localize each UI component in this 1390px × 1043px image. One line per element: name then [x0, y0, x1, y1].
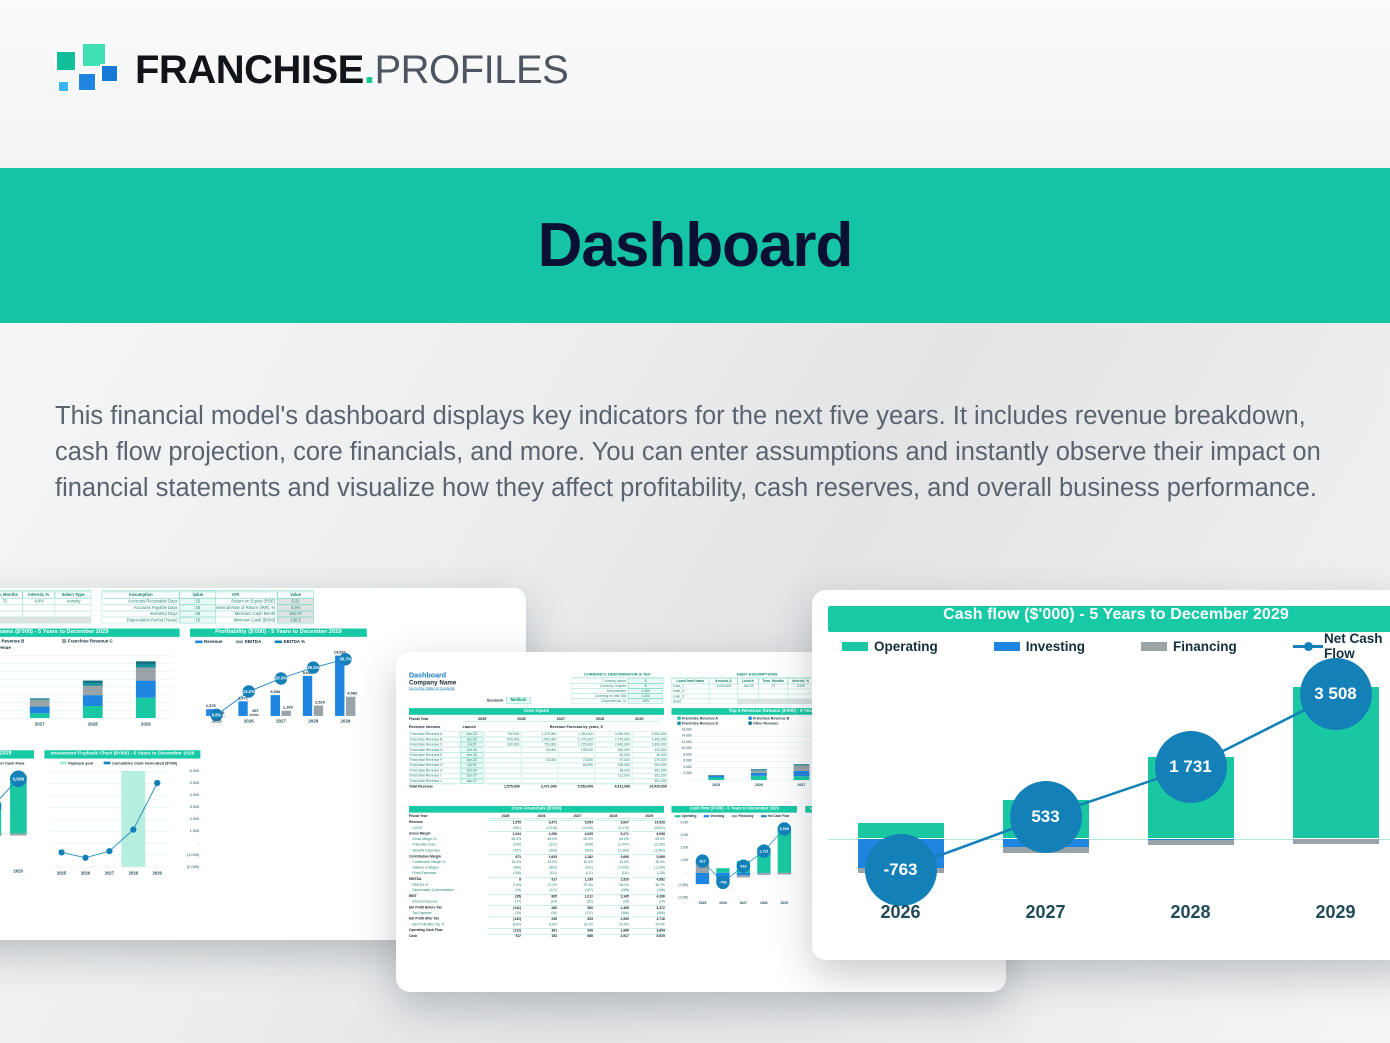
cf-row-value: 805: [524, 894, 558, 899]
cf-row-value: 671: [488, 854, 522, 859]
legend-swatch: [1141, 642, 1167, 651]
bar-segment: [83, 683, 103, 686]
mini-cashflow-label: 533: [737, 859, 750, 872]
page-banner: Dashboard: [0, 168, 1390, 323]
y-tick: 4,000: [673, 765, 691, 770]
cashflow-legend: OperatingInvestingFinancingNet Cash Flow: [842, 636, 1390, 656]
legend-label: Financing: [1173, 639, 1237, 654]
legend-item: Revenue: [195, 639, 222, 644]
cf-row-value: (1,447): [596, 843, 630, 848]
debt-header-4: Interest, %: [23, 592, 55, 599]
cf-row-label: Franchise Fees: [412, 843, 491, 848]
label-ebitda-pct: 26.1%: [307, 661, 319, 673]
payback-year-band: [121, 771, 145, 867]
legend-label: Net Cash Flow: [768, 814, 790, 818]
legend-label: Franchise Revenue D: [682, 721, 718, 725]
profitability-legend: RevenueEBITDAEBITDA %: [195, 638, 365, 645]
cf-row-value: (26): [488, 911, 522, 916]
gridline: [50, 867, 170, 868]
cf-row-value: (111): [524, 871, 558, 876]
cf-row-value: 980: [560, 905, 594, 910]
label-ebitda-pct: 13.2%: [243, 685, 255, 697]
y-tick: 2,000: [670, 846, 688, 851]
mini-cashflow-label: 1,731: [757, 844, 770, 857]
legend-label: Franchise Revenue A: [682, 716, 718, 720]
cf-row-value: (186): [596, 888, 630, 893]
cf-row-value: 2,385: [596, 905, 630, 910]
legend-item: Franchise Revenue C: [62, 638, 150, 644]
mini-cashflow-label: 3,508: [778, 822, 791, 835]
cf-row-value: (503): [524, 866, 558, 871]
legend-label: EBITDA %: [284, 639, 305, 644]
x-tick: 2026: [713, 901, 733, 906]
y-tick: 10,000: [673, 746, 691, 751]
cf-row-value: 1,999: [596, 917, 630, 922]
cf-row-value: 65.0%: [524, 837, 558, 842]
legend-swatch: [732, 815, 737, 817]
cf-row-label: Gross Margin: [409, 832, 488, 837]
cf-row-value: 65.0%: [596, 837, 630, 842]
x-tick: 2028: [754, 901, 774, 906]
debt-header-3: Term, Months: [0, 592, 23, 599]
legend-swatch: [275, 640, 282, 643]
data-label-2026: -763: [865, 834, 937, 906]
cashflow-x-axis: 2026202720282029: [828, 902, 1390, 926]
legend-label: Net Cash Flow: [0, 761, 24, 766]
key-metrics-h0: KPI: [194, 592, 277, 599]
cf-row-value: (39): [596, 900, 630, 905]
cf-row-value: (187): [560, 888, 594, 893]
cf-row-value: 3,694: [632, 928, 666, 933]
cf-row-value: 3,716: [632, 917, 666, 922]
legend-item: Operating: [675, 814, 696, 818]
bar-financing: [0, 834, 1, 836]
legend-swatch: [675, 815, 680, 817]
bar-segment: [83, 695, 103, 706]
bar-segment: [751, 770, 767, 771]
label-ebitda: 457: [249, 708, 261, 714]
cf-row-value: (1,254): [632, 866, 666, 871]
y-tick: 14,000: [673, 734, 691, 739]
bar-financing: [10, 833, 27, 835]
cf-row-value: 14.2%: [560, 922, 594, 927]
legend-label: Franchise Revenue C: [68, 638, 113, 643]
cf-row-label: Fixed Expenses: [412, 871, 491, 876]
bar-ebitda: [249, 714, 258, 716]
core-inputs-year-2028: 2028: [580, 716, 619, 721]
cashflow-plot: -7635331 7313 508: [828, 666, 1390, 896]
cf-row-value: 65.0%: [488, 837, 522, 842]
cf-row-label: Net Profit After Tax: [409, 917, 488, 922]
legend-label: Investing: [711, 814, 725, 818]
legend-swatch: [677, 716, 680, 719]
cf-row-value: 1,199: [560, 877, 594, 882]
legend-swatch: [994, 642, 1020, 651]
legend-label: Franchise Revenue B: [0, 638, 24, 643]
x-tick: 2025: [692, 901, 712, 906]
cf-row-value: (226): [488, 843, 522, 848]
cf-row-label: EBITDA %: [412, 883, 491, 888]
cf-row-value: (186): [632, 888, 666, 893]
legend-item: Other Revenue: [748, 721, 819, 726]
y-tick: 3,000: [670, 833, 688, 838]
cf-fiscal-label: Fiscal Year: [409, 814, 459, 819]
label-ebitda: 2,520: [314, 700, 326, 706]
legend-item-operating: Operating: [842, 639, 938, 654]
x-tick: 2026: [738, 783, 781, 788]
legend-item: Net Cash Flow: [761, 814, 789, 818]
cf-row-label: Variable Expenses: [412, 849, 491, 854]
legend-item: Investing: [704, 814, 724, 818]
debt-cell[interactable]: Grant: [672, 699, 710, 704]
label-ebitda: 1,199: [282, 705, 294, 711]
brand-name-light: PROFILES: [374, 48, 568, 92]
cf-row-value: (28): [488, 888, 522, 893]
legend-label: Other Revenue: [0, 645, 11, 650]
debt-cell[interactable]: [758, 699, 787, 704]
cf-row-value: (52): [560, 900, 594, 905]
cf-row-value: 5,968: [632, 854, 666, 859]
y-tick: -: [670, 871, 688, 876]
cf-row-value: (1,462): [632, 849, 666, 854]
cf-row-value: 1,024: [488, 832, 522, 837]
x-tick: 2026: [233, 719, 265, 725]
bar-segment: [794, 765, 810, 766]
cf-row-value: (1,030): [596, 866, 630, 871]
cf-row-value: 2,256: [524, 832, 558, 837]
cf-row-value: (5,522): [632, 826, 666, 831]
x-tick: 2029: [774, 901, 794, 906]
x-tick: 2028: [121, 871, 145, 877]
debt-header-5: Select Type: [55, 592, 91, 599]
cf-row-value: 65.0%: [632, 837, 666, 842]
y-tick: (2,000): [170, 864, 199, 870]
y-tick: 8,000: [673, 752, 691, 757]
label-ebitda-pct: 30.7%: [339, 653, 351, 665]
x-tick: 2027: [13, 721, 66, 727]
x-tick: 2029: [119, 721, 172, 727]
section-debt-title: DEBT ASSUMPTIONS: [0, 588, 91, 591]
cf-row-value: 1,645: [524, 854, 558, 859]
bar-financing: [778, 873, 791, 875]
gridline: [50, 831, 170, 832]
revenue-stream-launch[interactable]: Apr-27: [460, 779, 483, 784]
x-tick: 2028: [297, 719, 329, 725]
bar-segment: [794, 771, 810, 776]
gridline: [50, 771, 170, 772]
cf-row-label: Contribution Margin %: [412, 860, 491, 865]
bar-ebitda: [346, 697, 355, 716]
cf-row-label: Depreciation & Amortization: [412, 888, 491, 893]
bar-segment: [136, 698, 156, 718]
gridline: [50, 783, 170, 784]
legend-item: Payback year: [60, 761, 93, 766]
debt-cell[interactable]: [709, 699, 737, 704]
cf-row-label: Contribution Margin: [409, 854, 488, 859]
legend-item: Net Cash Flow: [0, 761, 24, 766]
legend-label: Investing: [1026, 639, 1085, 654]
bar-segment: [30, 713, 50, 718]
cf-row-value: (141): [488, 917, 522, 922]
cf-row-label: Gross Margin %: [412, 837, 491, 842]
screenshot-card-right[interactable]: Cash flow ($'000) - 5 Years to December …: [812, 590, 1390, 960]
label-ebitda-pct: 20.3%: [275, 672, 287, 684]
cf-row-value: (386): [596, 911, 630, 916]
legend-swatch: [677, 722, 680, 725]
currency-row-label: Corporate tax, %: [571, 699, 627, 704]
cf-row-value: 8,998: [632, 832, 666, 837]
cf-row-value: 40.0%: [632, 860, 666, 865]
x-tick: 2028: [66, 721, 119, 727]
profitability-chart-title: Profitability ($'000) - 5 Years to Decem…: [190, 629, 367, 637]
cf-row-value: 43.0%: [524, 860, 558, 865]
working-capital-label: Depreciation Period (Years): [102, 617, 180, 623]
bar-segment: [30, 706, 50, 713]
cf-row-value: (830): [560, 849, 594, 854]
cf-year-2027: 2027: [560, 814, 594, 819]
cf-row-label: EBITDA: [409, 877, 488, 882]
legend-label: Revenue: [204, 639, 222, 644]
cf-row-value: (656): [632, 911, 666, 916]
cf-row-value: 20.3%: [560, 883, 594, 888]
key-metrics-value[interactable]: 136.5: [277, 617, 313, 623]
debt-cell[interactable]: [55, 617, 91, 623]
x-tick: 2026: [74, 871, 98, 877]
key-metrics-label: Minimum Cash ($'000): [194, 617, 277, 623]
x-tick-2029: 2029: [1263, 902, 1390, 926]
cf-row-value: 3,666: [596, 854, 630, 859]
debt-cell[interactable]: [23, 617, 55, 623]
y-tick: -: [170, 840, 199, 846]
core-inputs-year-2027: 2027: [541, 716, 580, 721]
cf-row-value: 9,647: [596, 820, 630, 825]
cf-row-value: 40.0%: [596, 860, 630, 865]
x-tick: 2026: [0, 721, 13, 727]
y-tick: -: [673, 778, 691, 783]
cf-row-value: (141): [488, 905, 522, 910]
cf-row-value: -8.8%: [488, 922, 522, 927]
cf-row-label: Cash: [409, 934, 488, 939]
cf-row-value: (1,215): [524, 826, 558, 831]
cf-row-value: (111): [596, 871, 630, 876]
bar-segment: [794, 776, 810, 780]
key-metrics-h1: Value: [277, 592, 313, 599]
cf-row-value: 0.5%: [488, 883, 522, 888]
bar-segment: [30, 700, 50, 707]
y-tick: 3,000: [170, 804, 199, 810]
cf-row-value: (698): [560, 843, 594, 848]
cf-row-value: 2,917: [596, 934, 630, 939]
legend-swatch: [195, 640, 202, 643]
mini-cashflow-label: -763: [716, 876, 729, 889]
legend-swatch: [60, 762, 67, 765]
total-revenue-value: 5,053,000: [559, 784, 595, 789]
cf-row-label: Operating Cash Flow: [409, 928, 488, 933]
cf-row-value: (911): [560, 866, 594, 871]
legend-item: Financing: [732, 814, 753, 818]
cf-row-value: (64): [524, 900, 558, 905]
legend-label: Other Revenue: [753, 721, 778, 725]
mini-cashflow-legend: OperatingInvestingFinancingNet Cash Flow: [675, 813, 796, 818]
bar-segment: [83, 706, 103, 718]
bar-ebitda: [314, 705, 323, 715]
bar-revenue: [238, 701, 247, 715]
cf-row-value: 686: [560, 934, 594, 939]
cf-row-label: EBIT: [409, 894, 488, 899]
logo-squares-icon: [55, 42, 117, 98]
cf-row-value: 1,012: [560, 894, 594, 899]
y-tick: 16,000: [673, 727, 691, 732]
total-revenue-value: 14,520,000: [632, 784, 668, 789]
legend-label: Cumulative Cash Generated ($'000): [112, 761, 177, 766]
bar-segment: [30, 698, 50, 699]
debt-cell[interactable]: [738, 699, 759, 704]
bar-segment: [751, 769, 767, 770]
bar-segment: [794, 765, 810, 770]
legend-swatch: [761, 815, 766, 817]
brand-wordmark: FRANCHISE.PROFILES: [135, 48, 568, 93]
y-tick: 2,000: [673, 771, 691, 776]
brand-name-bold: FRANCHISE: [135, 48, 364, 92]
gridline: [50, 843, 170, 844]
cf-row-value: 40.0%: [560, 860, 594, 865]
data-label-2027: 533: [1010, 781, 1082, 853]
y-tick: 1,000: [170, 828, 199, 834]
mini-cashflow-legend: OperatingInvestingFinancingNet Cash Flow: [0, 760, 33, 767]
cf-row-value: 4,582: [632, 877, 666, 882]
cf-row-value: (1,190): [596, 849, 630, 854]
cf-row-value: 27.2%: [524, 883, 558, 888]
cf-row-value: 2,345: [596, 894, 630, 899]
legend-label: Payback year: [68, 761, 93, 766]
cf-row-value: 1,575: [488, 820, 522, 825]
bar-segment: [751, 773, 767, 776]
x-tick: 2025: [200, 719, 232, 725]
y-tick: 4,000: [670, 821, 688, 826]
currency-row-value[interactable]: 15%: [628, 699, 663, 704]
bar-financing: [737, 875, 750, 877]
bar-segment: [136, 681, 156, 698]
cf-row-value: (211): [524, 843, 558, 848]
total-revenue-value: 3,471,000: [522, 784, 558, 789]
cf-row-value: (2,280): [632, 843, 666, 848]
page-title: Dashboard: [538, 210, 853, 281]
y-tick: 6,000: [673, 759, 691, 764]
x-tick: 2027: [733, 901, 753, 906]
bar-segment: [708, 778, 724, 780]
y-tick: (1,000): [170, 852, 199, 858]
legend-label: Net Cash Flow: [1324, 631, 1390, 661]
legend-swatch: [842, 642, 868, 651]
cf-row-value: 60.0%: [560, 837, 594, 842]
cf-row-value: 5,054: [560, 820, 594, 825]
cf-row-value: 3,471: [524, 820, 558, 825]
legend-item: Cumulative Cash Generated ($'000): [104, 761, 178, 766]
y-tick: (2,000): [670, 896, 688, 901]
mini-cashflow-title: Cash flow ($'000) - 5 Years to December …: [0, 750, 34, 758]
core-inputs-year-2029: 2029: [620, 716, 659, 721]
legend-label: Operating: [874, 639, 938, 654]
bar-segment: [751, 770, 767, 772]
cf-row-value: 4,372: [632, 905, 666, 910]
cf-row-value: 14,520: [632, 820, 666, 825]
cf-row-value: (135): [632, 871, 666, 876]
cf-year-2029: 2029: [632, 814, 666, 819]
x-tick: 2025: [695, 783, 738, 788]
cf-row-value: 5,925: [632, 934, 666, 939]
cf-row-label: Interest Expense: [412, 900, 491, 905]
bar-revenue: [303, 676, 312, 716]
x-tick-2027: 2027: [973, 902, 1118, 926]
cf-row-value: (108): [488, 871, 522, 876]
legend-label: Operating: [682, 814, 697, 818]
cf-row-label: Salaries & Wages: [412, 866, 491, 871]
legend-label: Franchise Revenue B: [753, 716, 789, 720]
revenue-streams-chart-title: Top 5 Revenue Streams ($'000) - 5 Years …: [0, 629, 180, 637]
legend-swatch: [748, 716, 751, 719]
core-financials-band: Core Financials ($'000): [409, 806, 664, 813]
legend-item: Franchise Revenue D: [677, 721, 748, 726]
legend-label: EBITDA: [245, 639, 261, 644]
y-tick: 2,000: [170, 816, 199, 822]
mini-cashflow-title: Cash flow ($'000) - 5 Years to December …: [672, 806, 797, 813]
mini-cashflow-label: 3,508: [10, 770, 27, 787]
cf-row-value: 833: [560, 917, 594, 922]
x-tick: 2027: [97, 871, 121, 877]
cf-row-value: 2,182: [560, 854, 594, 859]
key-metrics-title: KEY METRICS: [194, 588, 314, 591]
cf-row-value: (344): [488, 866, 522, 871]
revenue-streams-legend: Franchise Revenue AFranchise Revenue BFr…: [0, 638, 176, 650]
cf-row-value: (35): [488, 894, 522, 899]
x-tick: 2029: [329, 719, 361, 725]
cashflow-chart-title: Cash flow ($'000) - 5 Years to December …: [828, 606, 1390, 632]
cf-row-value: (24): [632, 900, 666, 905]
cf-row-value: (112): [524, 888, 558, 893]
y-tick: 6,000: [170, 768, 199, 774]
cf-year-2028: 2028: [596, 814, 630, 819]
bar-investing: [696, 873, 709, 884]
bar-financing: [757, 873, 770, 875]
debt-cell[interactable]: [0, 617, 23, 623]
bar-segment: [136, 661, 156, 664]
debt-cell[interactable]: [788, 699, 814, 704]
cf-row-label: Tax Expense: [412, 911, 491, 916]
working-capital-h0: Assumption: [102, 592, 180, 599]
mini-dashboard: DashboardCompany NameGo to the Table of …: [0, 588, 159, 940]
cf-row-value: (111): [560, 871, 594, 876]
x-tick: 2027: [265, 719, 297, 725]
cf-row-value: 381: [524, 928, 558, 933]
cf-row-label: COGS: [412, 826, 491, 831]
total-revenue-label: Total Revenue: [409, 784, 459, 789]
legend-swatch: [62, 639, 66, 643]
cf-row-value: 26.1%: [596, 883, 630, 888]
cf-row-value: 4,396: [632, 894, 666, 899]
x-tick: 2029: [145, 871, 169, 877]
payback-legend: Payback yearCumulative Cash Generated ($…: [60, 760, 200, 767]
cf-row-value: (30): [524, 911, 558, 916]
cf-row-value: 154: [524, 934, 558, 939]
bar-segment: [136, 664, 156, 667]
page-header: FRANCHISE.PROFILES: [0, 0, 1390, 168]
cf-row-value: 917: [488, 934, 522, 939]
y-tick: (1,000): [670, 883, 688, 888]
legend-item: Other Revenue: [0, 644, 62, 650]
cf-row-value: 239: [524, 917, 558, 922]
cf-row-label: Net Profit Before Tax: [409, 905, 488, 910]
label-ebitda: 4,582: [346, 691, 358, 697]
